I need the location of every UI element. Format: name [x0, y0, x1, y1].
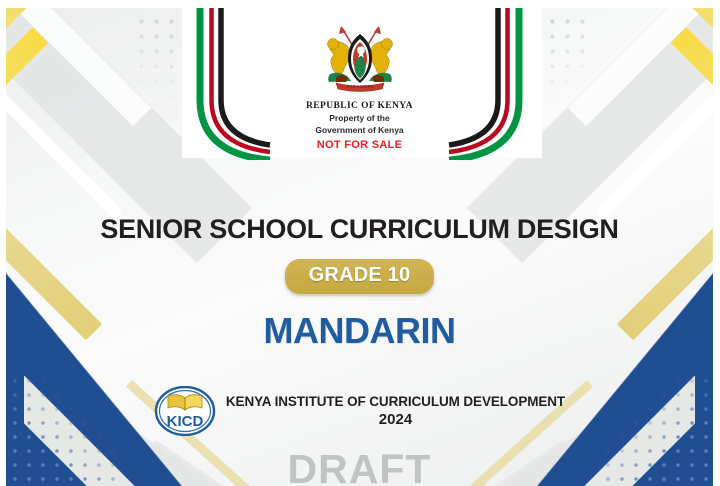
property-line-2: Government of Kenya: [6, 125, 713, 136]
cover-content: HARAMBEE REPUBLIC OF KENYA Property of t…: [6, 8, 713, 486]
republic-of-kenya-label: REPUBLIC OF KENYA: [6, 100, 713, 112]
kicd-logo-text: KICD: [167, 413, 204, 430]
page-title: SENIOR SCHOOL CURRICULUM DESIGN: [6, 214, 713, 245]
grade-badge: GRADE 10: [285, 259, 435, 294]
publication-year: 2024: [226, 411, 565, 428]
page-frame: HARAMBEE REPUBLIC OF KENYA Property of t…: [0, 0, 720, 486]
grade-badge-wrapper: GRADE 10: [6, 259, 713, 294]
kenya-coat-of-arms-icon: HARAMBEE: [306, 22, 414, 98]
page-inner-canvas: HARAMBEE REPUBLIC OF KENYA Property of t…: [6, 8, 713, 486]
subject-title: MANDARIN: [6, 310, 713, 352]
draft-watermark: DRAFT: [6, 446, 713, 486]
not-for-sale-label: NOT FOR SALE: [6, 139, 713, 151]
kicd-book-logo-icon: KICD: [154, 386, 216, 436]
document-cover-page: HARAMBEE REPUBLIC OF KENYA Property of t…: [0, 0, 720, 486]
svg-text:HARAMBEE: HARAMBEE: [346, 84, 374, 89]
republic-text-block: REPUBLIC OF KENYA Property of the Govern…: [6, 100, 713, 151]
institute-name: KENYA INSTITUTE OF CURRICULUM DEVELOPMEN…: [226, 394, 565, 409]
kicd-attribution-row: KICD KENYA INSTITUTE OF CURRICULUM DEVEL…: [6, 386, 713, 436]
property-line-1: Property of the: [6, 113, 713, 124]
kicd-text-block: KENYA INSTITUTE OF CURRICULUM DEVELOPMEN…: [226, 394, 565, 428]
